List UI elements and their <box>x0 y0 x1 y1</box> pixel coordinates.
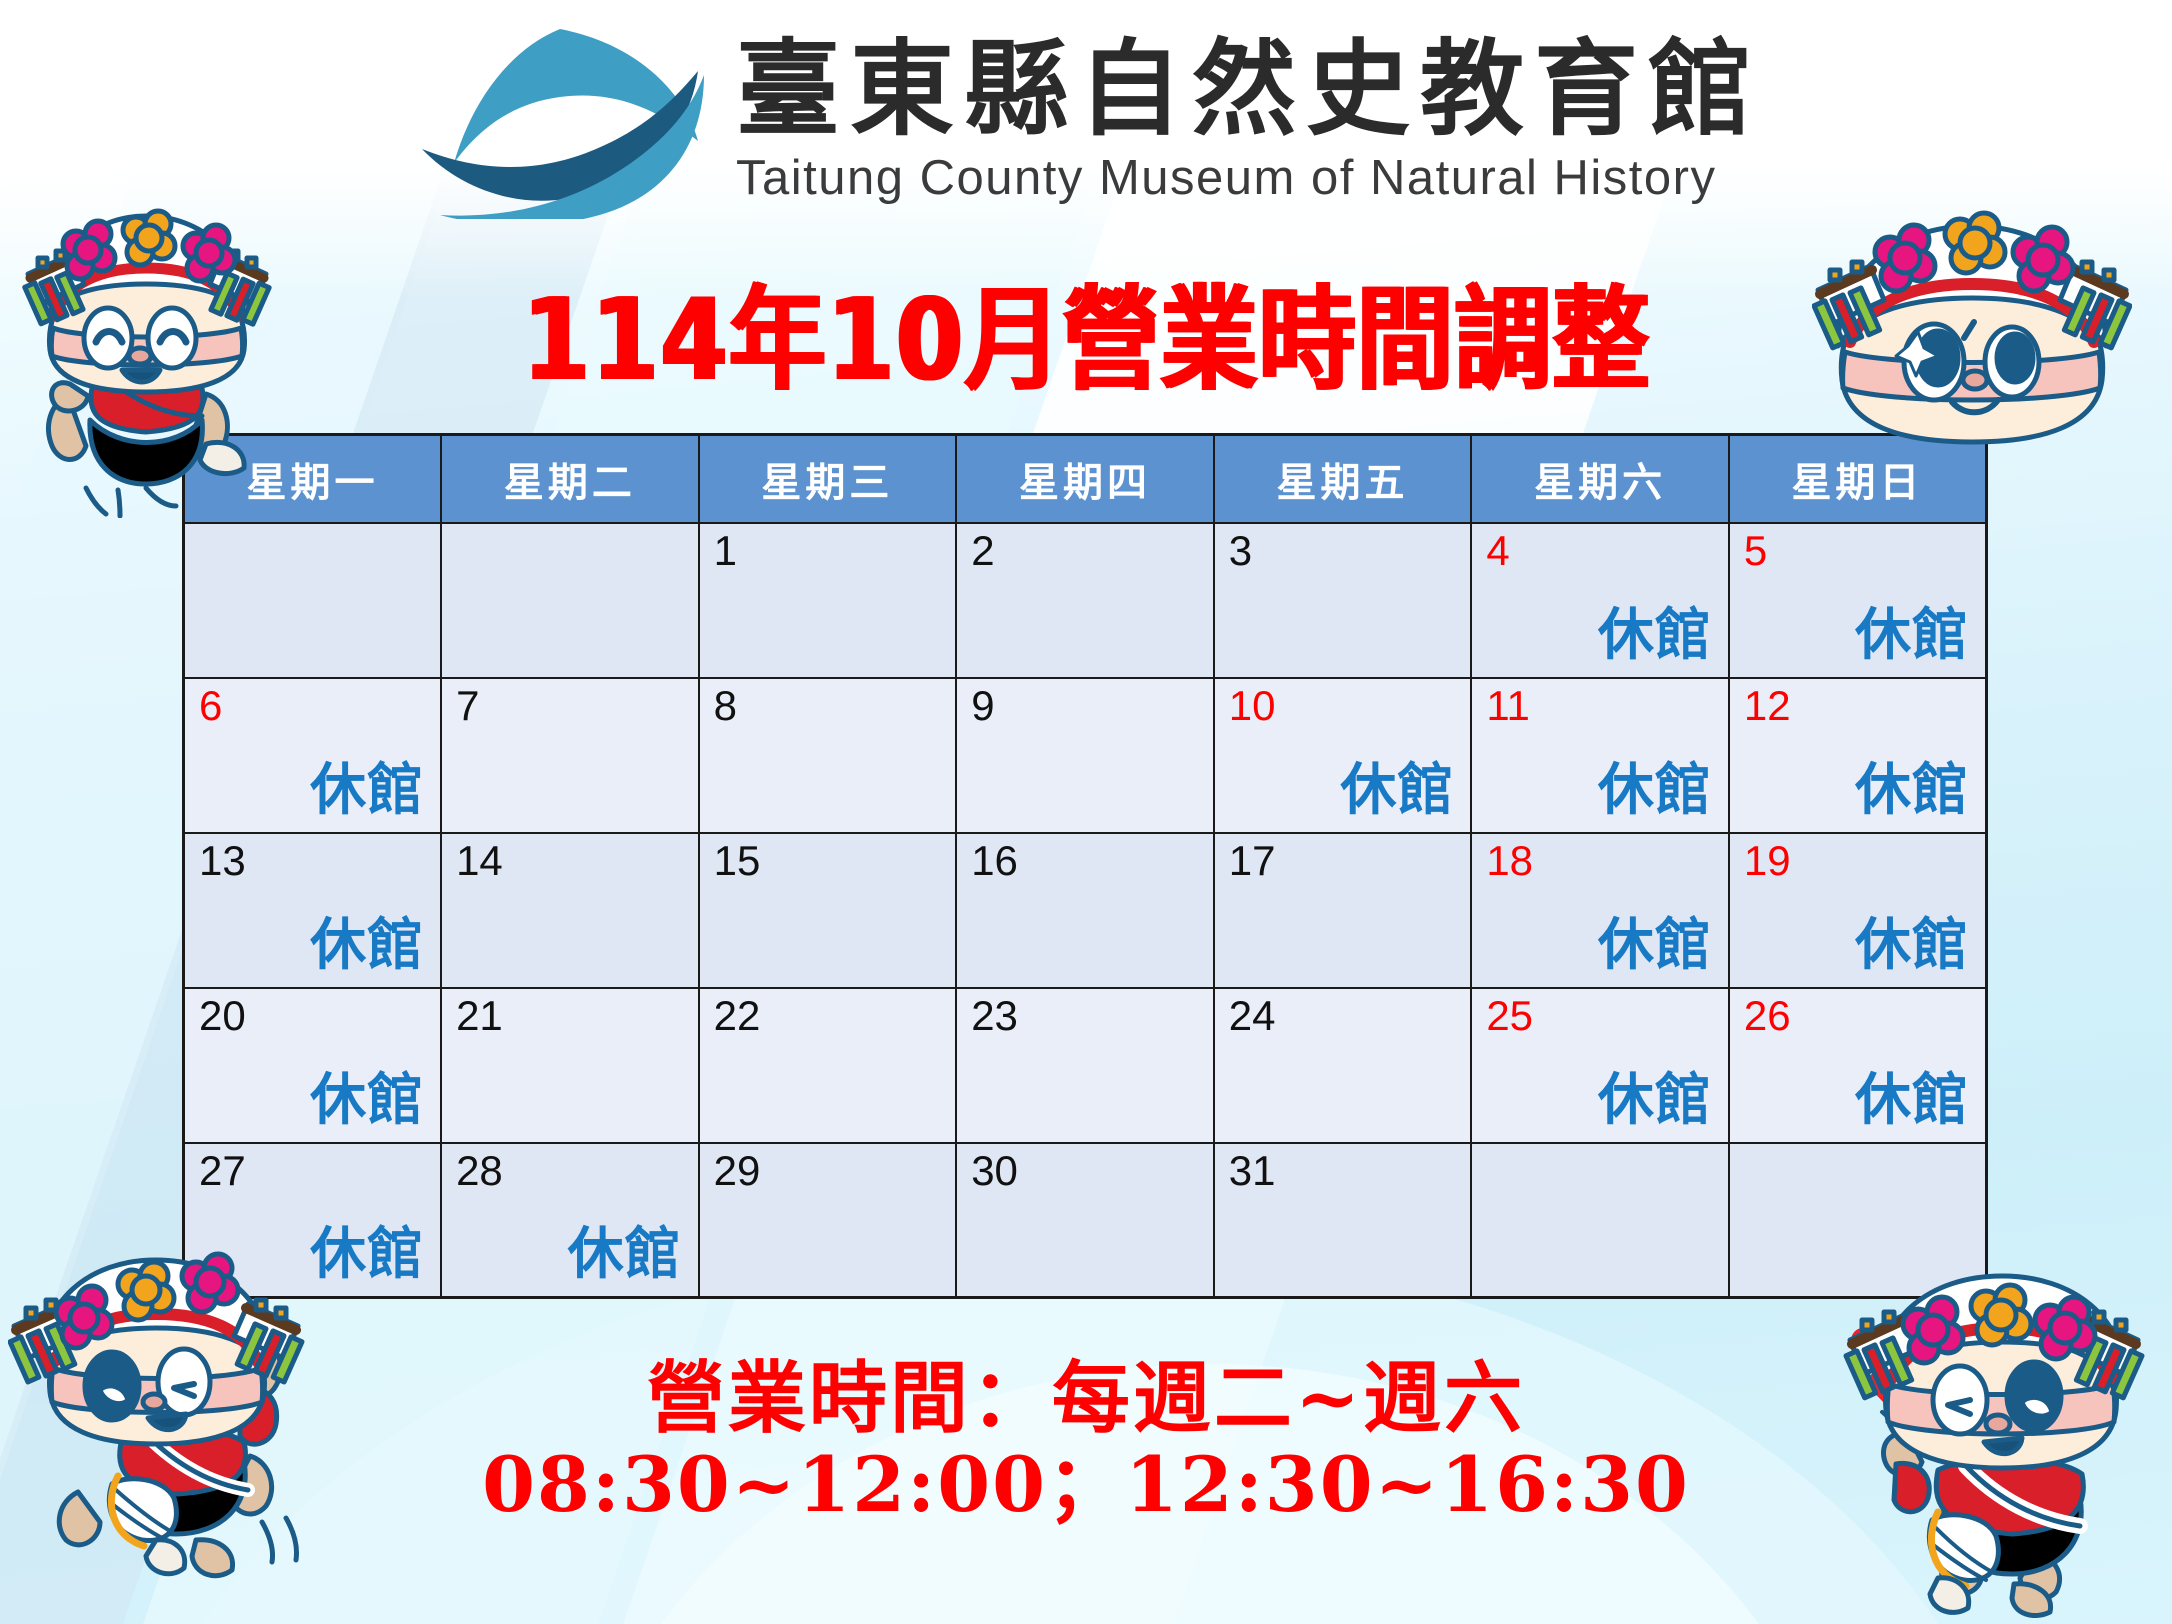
day-number: 15 <box>714 840 942 882</box>
mascot-top-right <box>1812 180 2132 470</box>
calendar-cell-day-30: 30 <box>956 1143 1214 1298</box>
closed-badge: 休館 <box>1855 900 1969 981</box>
calendar-cell-day-13: 13休館 <box>184 833 442 988</box>
brand-name-zh: 臺東縣自然史教育館 <box>736 36 1762 142</box>
calendar-weekday-header-4: 星期四 <box>956 435 1214 523</box>
day-number: 17 <box>1229 840 1457 882</box>
calendar-cell-empty <box>441 523 699 678</box>
calendar-cell-day-20: 20休館 <box>184 988 442 1143</box>
calendar-cell-day-2: 2 <box>956 523 1214 678</box>
day-number: 7 <box>456 685 684 727</box>
day-number: 11 <box>1486 685 1714 727</box>
day-number: 29 <box>714 1150 942 1192</box>
calendar-weekday-header-3: 星期三 <box>699 435 957 523</box>
day-number: 5 <box>1744 530 1971 572</box>
calendar-cell-day-12: 12休館 <box>1729 678 1987 833</box>
day-number: 3 <box>1229 530 1457 572</box>
calendar-week-row: 1234休館5休館 <box>184 523 1987 678</box>
day-number: 2 <box>971 530 1199 572</box>
closed-badge: 休館 <box>568 1209 682 1290</box>
day-number: 28 <box>456 1150 684 1192</box>
calendar-cell-day-26: 26休館 <box>1729 988 1987 1143</box>
closed-badge: 休館 <box>1855 745 1969 826</box>
mascot-bottom-right <box>1838 1248 2148 1618</box>
calendar-cell-day-1: 1 <box>699 523 957 678</box>
day-number: 18 <box>1486 840 1714 882</box>
calendar-cell-day-5: 5休館 <box>1729 523 1987 678</box>
calendar-week-row: 20休館2122232425休館26休館 <box>184 988 1987 1143</box>
calendar-weekday-header-2: 星期二 <box>441 435 699 523</box>
closed-badge: 休館 <box>310 1055 424 1136</box>
closed-badge: 休館 <box>1598 1055 1712 1136</box>
calendar-cell-day-17: 17 <box>1214 833 1472 988</box>
calendar-cell-day-3: 3 <box>1214 523 1472 678</box>
day-number: 27 <box>199 1150 426 1192</box>
calendar-cell-day-29: 29 <box>699 1143 957 1298</box>
day-number: 19 <box>1744 840 1971 882</box>
calendar-weekday-header-6: 星期六 <box>1471 435 1729 523</box>
day-number: 12 <box>1744 685 1971 727</box>
mascot-top-left <box>10 188 280 518</box>
day-number: 31 <box>1229 1150 1457 1192</box>
brand-name-en: Taitung County Museum of Natural History <box>736 150 1717 206</box>
calendar-cell-day-8: 8 <box>699 678 957 833</box>
calendar-weekday-header-5: 星期五 <box>1214 435 1472 523</box>
calendar-cell-day-14: 14 <box>441 833 699 988</box>
calendar-header-row: 星期一星期二星期三星期四星期五星期六星期日 <box>184 435 1987 523</box>
calendar-table: 星期一星期二星期三星期四星期五星期六星期日 1234休館5休館6休館78910休… <box>182 433 1988 1299</box>
day-number: 6 <box>199 685 426 727</box>
day-number: 9 <box>971 685 1199 727</box>
day-number: 30 <box>971 1150 1199 1192</box>
day-number: 16 <box>971 840 1199 882</box>
day-number: 22 <box>714 995 942 1037</box>
calendar-cell-day-21: 21 <box>441 988 699 1143</box>
day-number: 21 <box>456 995 684 1037</box>
day-number: 10 <box>1229 685 1457 727</box>
day-number: 4 <box>1486 530 1714 572</box>
day-number: 8 <box>714 685 942 727</box>
calendar-cell-day-6: 6休館 <box>184 678 442 833</box>
calendar-cell-day-9: 9 <box>956 678 1214 833</box>
calendar-cell-day-28: 28休館 <box>441 1143 699 1298</box>
day-number: 13 <box>199 840 426 882</box>
calendar-cell-day-10: 10休館 <box>1214 678 1472 833</box>
calendar-cell-day-19: 19休館 <box>1729 833 1987 988</box>
closed-badge: 休館 <box>1340 745 1454 826</box>
calendar-week-row: 13休館1415161718休館19休館 <box>184 833 1987 988</box>
day-number: 26 <box>1744 995 1971 1037</box>
wave-logo-icon <box>410 23 710 219</box>
closed-badge: 休館 <box>310 745 424 826</box>
day-number: 1 <box>714 530 942 572</box>
closed-badge: 休館 <box>1598 745 1712 826</box>
closed-badge: 休館 <box>1598 900 1712 981</box>
calendar-cell-day-7: 7 <box>441 678 699 833</box>
closed-badge: 休館 <box>1855 590 1969 671</box>
calendar-cell-day-18: 18休館 <box>1471 833 1729 988</box>
calendar-cell-day-11: 11休館 <box>1471 678 1729 833</box>
day-number: 25 <box>1486 995 1714 1037</box>
calendar-cell-empty <box>184 523 442 678</box>
calendar-cell-day-4: 4休館 <box>1471 523 1729 678</box>
day-number: 23 <box>971 995 1199 1037</box>
day-number: 14 <box>456 840 684 882</box>
mascot-bottom-left <box>8 1240 328 1612</box>
calendar-cell-day-22: 22 <box>699 988 957 1143</box>
calendar-cell-empty <box>1471 1143 1729 1298</box>
day-number: 20 <box>199 995 426 1037</box>
calendar-cell-day-24: 24 <box>1214 988 1472 1143</box>
poster-root: 臺東縣自然史教育館 Taitung County Museum of Natur… <box>0 0 2172 1624</box>
calendar-cell-day-16: 16 <box>956 833 1214 988</box>
closed-badge: 休館 <box>310 900 424 981</box>
calendar-week-row: 6休館78910休館11休館12休館 <box>184 678 1987 833</box>
brand-text: 臺東縣自然史教育館 Taitung County Museum of Natur… <box>736 36 1762 206</box>
calendar-cell-day-25: 25休館 <box>1471 988 1729 1143</box>
calendar-cell-day-23: 23 <box>956 988 1214 1143</box>
closed-badge: 休館 <box>1855 1055 1969 1136</box>
calendar-cell-day-15: 15 <box>699 833 957 988</box>
closed-badge: 休館 <box>1598 590 1712 671</box>
calendar-cell-day-31: 31 <box>1214 1143 1472 1298</box>
day-number: 24 <box>1229 995 1457 1037</box>
calendar-week-row: 27休館28休館293031 <box>184 1143 1987 1298</box>
